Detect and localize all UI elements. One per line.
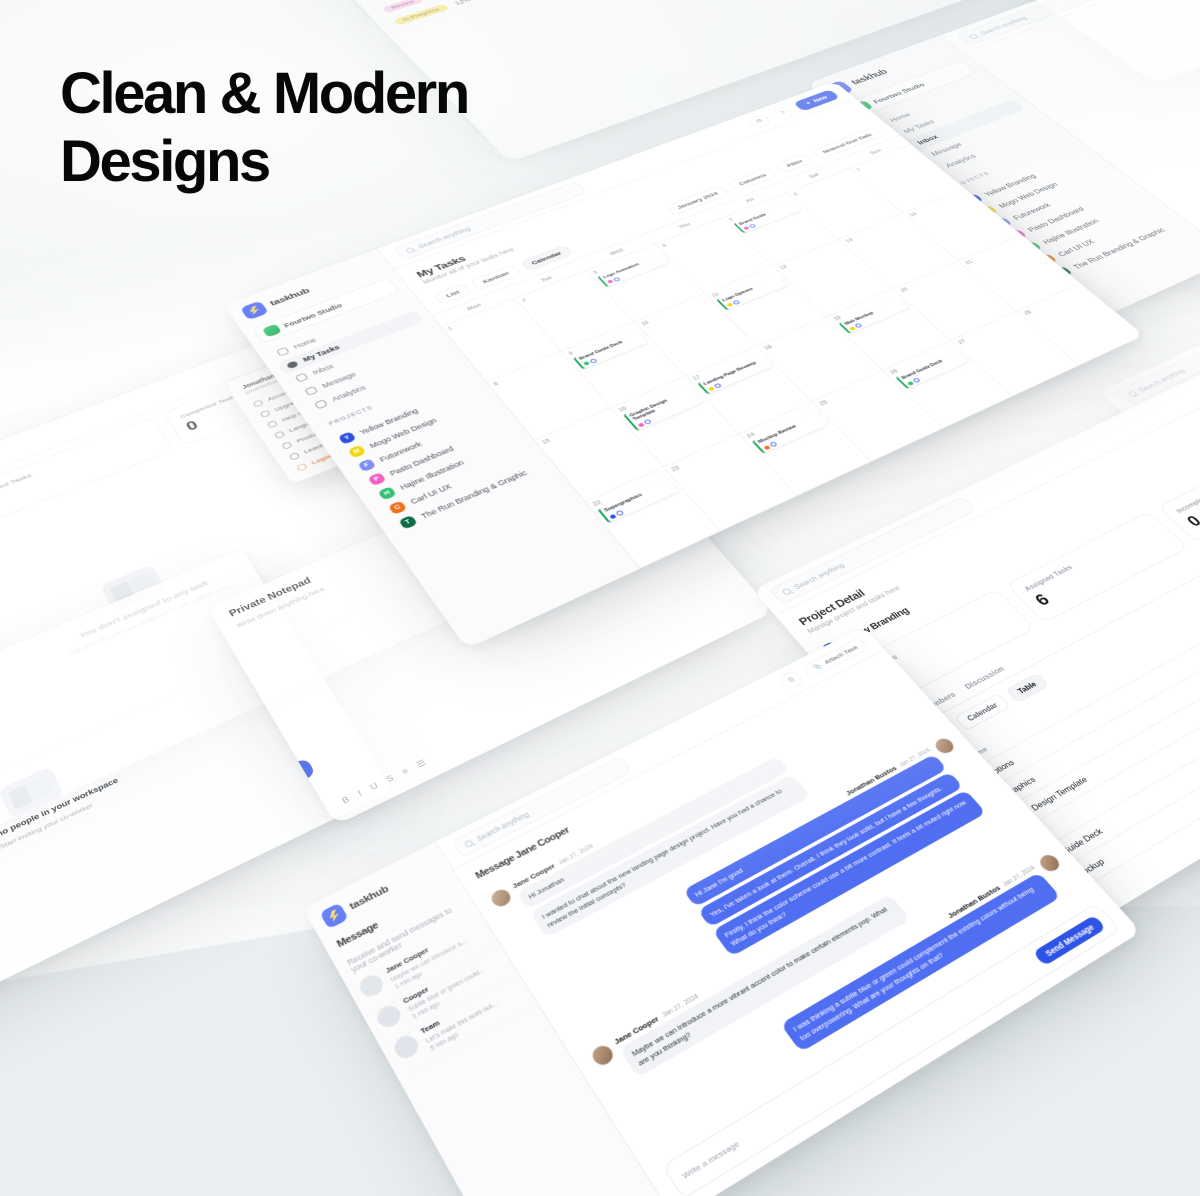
brand-name: taskhub [348,884,391,912]
search-placeholder: Search anything [978,15,1029,36]
avatar [356,972,386,1000]
globe-icon [274,431,285,439]
message-icon [304,386,318,396]
project-avatar-icon: H [378,486,397,500]
taskhub-logo-icon [240,301,269,321]
assignee-avatar [644,419,653,425]
avatar [589,1042,617,1068]
percent-value: 12% [453,0,481,6]
brand-name: taskhub [268,287,311,308]
new-button-label: New [811,94,829,103]
project-color-dot [763,445,770,450]
format-button-U[interactable]: U [368,781,380,793]
project-avatar-icon: P [367,472,386,486]
analytics-icon [314,399,328,409]
assignee-avatar [615,510,624,517]
search-icon [781,587,792,595]
format-button-☰[interactable]: ☰ [415,758,428,770]
assignee-avatar [769,441,778,447]
project-color-dot [907,381,914,386]
logout-icon [296,463,307,471]
project-color-dot [607,280,614,284]
inbox-topbar: Search anything [940,0,1200,53]
attach-task-label: Attach Task [823,644,860,666]
project-avatar-icon: C [388,500,407,514]
gear-icon[interactable]: ⚙ [778,669,806,691]
format-button-B[interactable]: B [340,795,351,807]
format-button-I[interactable]: I [356,789,364,799]
search-icon [968,33,979,39]
help-circle-icon[interactable]: ? [769,105,796,120]
paperclip-icon: 📎 [812,662,824,671]
project-color-dot [609,514,617,520]
search-icon [405,247,415,254]
assignee-avatar [589,358,597,364]
workspace-name: Fourtwo Studio [871,81,926,104]
avatar [1036,852,1062,874]
sidebar-item-label: Inbox [915,133,940,145]
search-icon [463,839,473,848]
assignee-avatar [732,300,740,305]
project-color-dot [743,226,750,230]
project-color-dot [726,303,733,307]
assignee-avatar [749,224,757,229]
home-icon [276,347,290,356]
assignee-avatar [714,383,723,389]
search-input[interactable]: Search anything [955,0,1149,46]
search-icon [1127,390,1138,397]
workspace-avatar [262,324,282,338]
inbox-icon [295,373,309,383]
megaphone-icon [281,441,292,449]
project-color-dot [583,361,590,366]
format-button-≡[interactable]: ≡ [400,766,410,777]
chat-icon [289,452,300,460]
brand-name: taskhub [850,68,890,86]
analytics-row: In Progress12%Feb 21, 2024 [375,0,860,34]
help-circle-icon [267,420,278,428]
project-color-dot [849,326,856,331]
plus-icon: + [804,100,813,106]
avatar [488,887,514,910]
gear-icon[interactable]: ⚙ [746,113,773,129]
check-circle-icon [286,360,299,369]
page-title: Clean & Modern Designs [60,60,468,197]
gear-icon [253,400,264,408]
sparkle-icon [260,410,271,418]
format-button-S[interactable]: S [385,773,396,784]
project-color-dot [638,422,645,427]
project-color-dot [708,386,715,391]
avatar [932,736,957,756]
project-avatar-icon: T [398,515,418,530]
analytics-row-list: Done12%Feb 09, 2024To Do12%Feb 10, 2024S… [320,0,861,34]
project-avatar-icon: F [357,458,376,472]
assignee-avatar [613,277,621,282]
